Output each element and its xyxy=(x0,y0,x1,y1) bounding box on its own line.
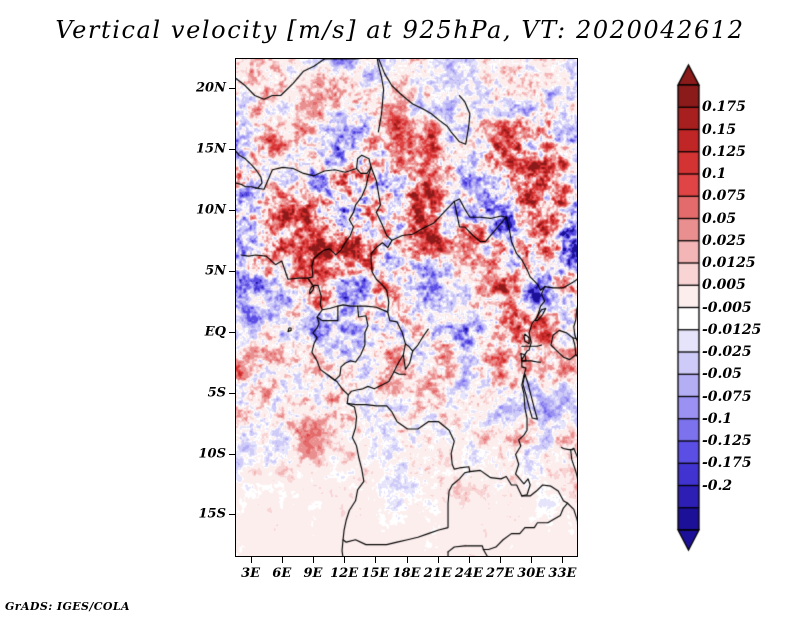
x-tick-mark xyxy=(344,557,345,563)
y-axis-label: EQ xyxy=(205,324,226,339)
coastline-border-overlay xyxy=(236,59,578,557)
y-axis-label: 15N xyxy=(196,142,226,157)
colorbar-tick-label: 0.175 xyxy=(702,99,746,115)
colorbar-tick-label: 0.15 xyxy=(702,122,736,138)
x-axis-label: 3E xyxy=(241,566,260,581)
y-tick-mark xyxy=(229,514,235,515)
y-axis-label: 20N xyxy=(196,81,226,96)
y-axis-label: 5N xyxy=(205,263,226,278)
colorbar-tick-label: 0.005 xyxy=(702,277,746,293)
map-plot-area: 20N15N10N5NEQ5S10S15S3E6E9E12E15E18E21E2… xyxy=(235,58,578,557)
colorbar-tick-label: 0.025 xyxy=(702,233,746,249)
x-tick-mark xyxy=(531,557,532,563)
x-tick-mark xyxy=(282,557,283,563)
colorbar-tick-label: -0.025 xyxy=(702,344,752,360)
colorbar-tick-label: -0.075 xyxy=(702,389,752,405)
colorbar-tick-label: 0.075 xyxy=(702,188,746,204)
x-tick-mark xyxy=(375,557,376,563)
x-axis-label: 6E xyxy=(272,566,291,581)
y-tick-mark xyxy=(229,271,235,272)
x-tick-mark xyxy=(407,557,408,563)
x-axis-label: 18E xyxy=(393,566,421,581)
y-tick-mark xyxy=(229,454,235,455)
x-axis-label: 12E xyxy=(330,566,358,581)
colorbar: 0.1750.150.1250.10.0750.050.0250.01250.0… xyxy=(670,60,790,555)
colorbar-tick-label: -0.125 xyxy=(702,433,752,449)
y-axis-label: 5S xyxy=(208,385,226,400)
x-tick-mark xyxy=(469,557,470,563)
y-tick-mark xyxy=(229,393,235,394)
colorbar-tick-label: -0.1 xyxy=(702,411,732,427)
y-axis-label: 10S xyxy=(199,446,226,461)
x-axis-label: 15E xyxy=(361,566,389,581)
y-axis-label: 10N xyxy=(196,203,226,218)
y-tick-mark xyxy=(229,149,235,150)
colorbar-tick-label: 0.1 xyxy=(702,166,726,182)
colorbar-tick-label: -0.0125 xyxy=(702,322,761,338)
colorbar-tick-label: -0.2 xyxy=(702,478,732,494)
page-title: Vertical velocity [m/s] at 925hPa, VT: 2… xyxy=(0,16,800,44)
y-tick-mark xyxy=(229,210,235,211)
x-tick-mark xyxy=(562,557,563,563)
x-axis-label: 9E xyxy=(303,566,322,581)
colorbar-tick-label: -0.05 xyxy=(702,366,742,382)
map-plot-frame xyxy=(235,58,578,557)
x-tick-mark xyxy=(251,557,252,563)
x-tick-mark xyxy=(313,557,314,563)
y-tick-mark xyxy=(229,332,235,333)
y-tick-mark xyxy=(229,88,235,89)
y-axis-label: 15S xyxy=(199,507,226,522)
colorbar-tick-label: 0.05 xyxy=(702,211,736,227)
grads-attribution: GrADS: IGES/COLA xyxy=(5,600,130,613)
colorbar-tick-label: 0.0125 xyxy=(702,255,756,271)
x-axis-label: 24E xyxy=(455,566,483,581)
x-axis-label: 21E xyxy=(424,566,452,581)
colorbar-tick-label: 0.125 xyxy=(702,144,746,160)
x-tick-mark xyxy=(438,557,439,563)
x-tick-mark xyxy=(500,557,501,563)
colorbar-tick-label: -0.175 xyxy=(702,455,752,471)
x-axis-label: 33E xyxy=(548,566,576,581)
x-axis-label: 30E xyxy=(517,566,545,581)
colorbar-tick-label: -0.005 xyxy=(702,300,752,316)
x-axis-label: 27E xyxy=(486,566,514,581)
